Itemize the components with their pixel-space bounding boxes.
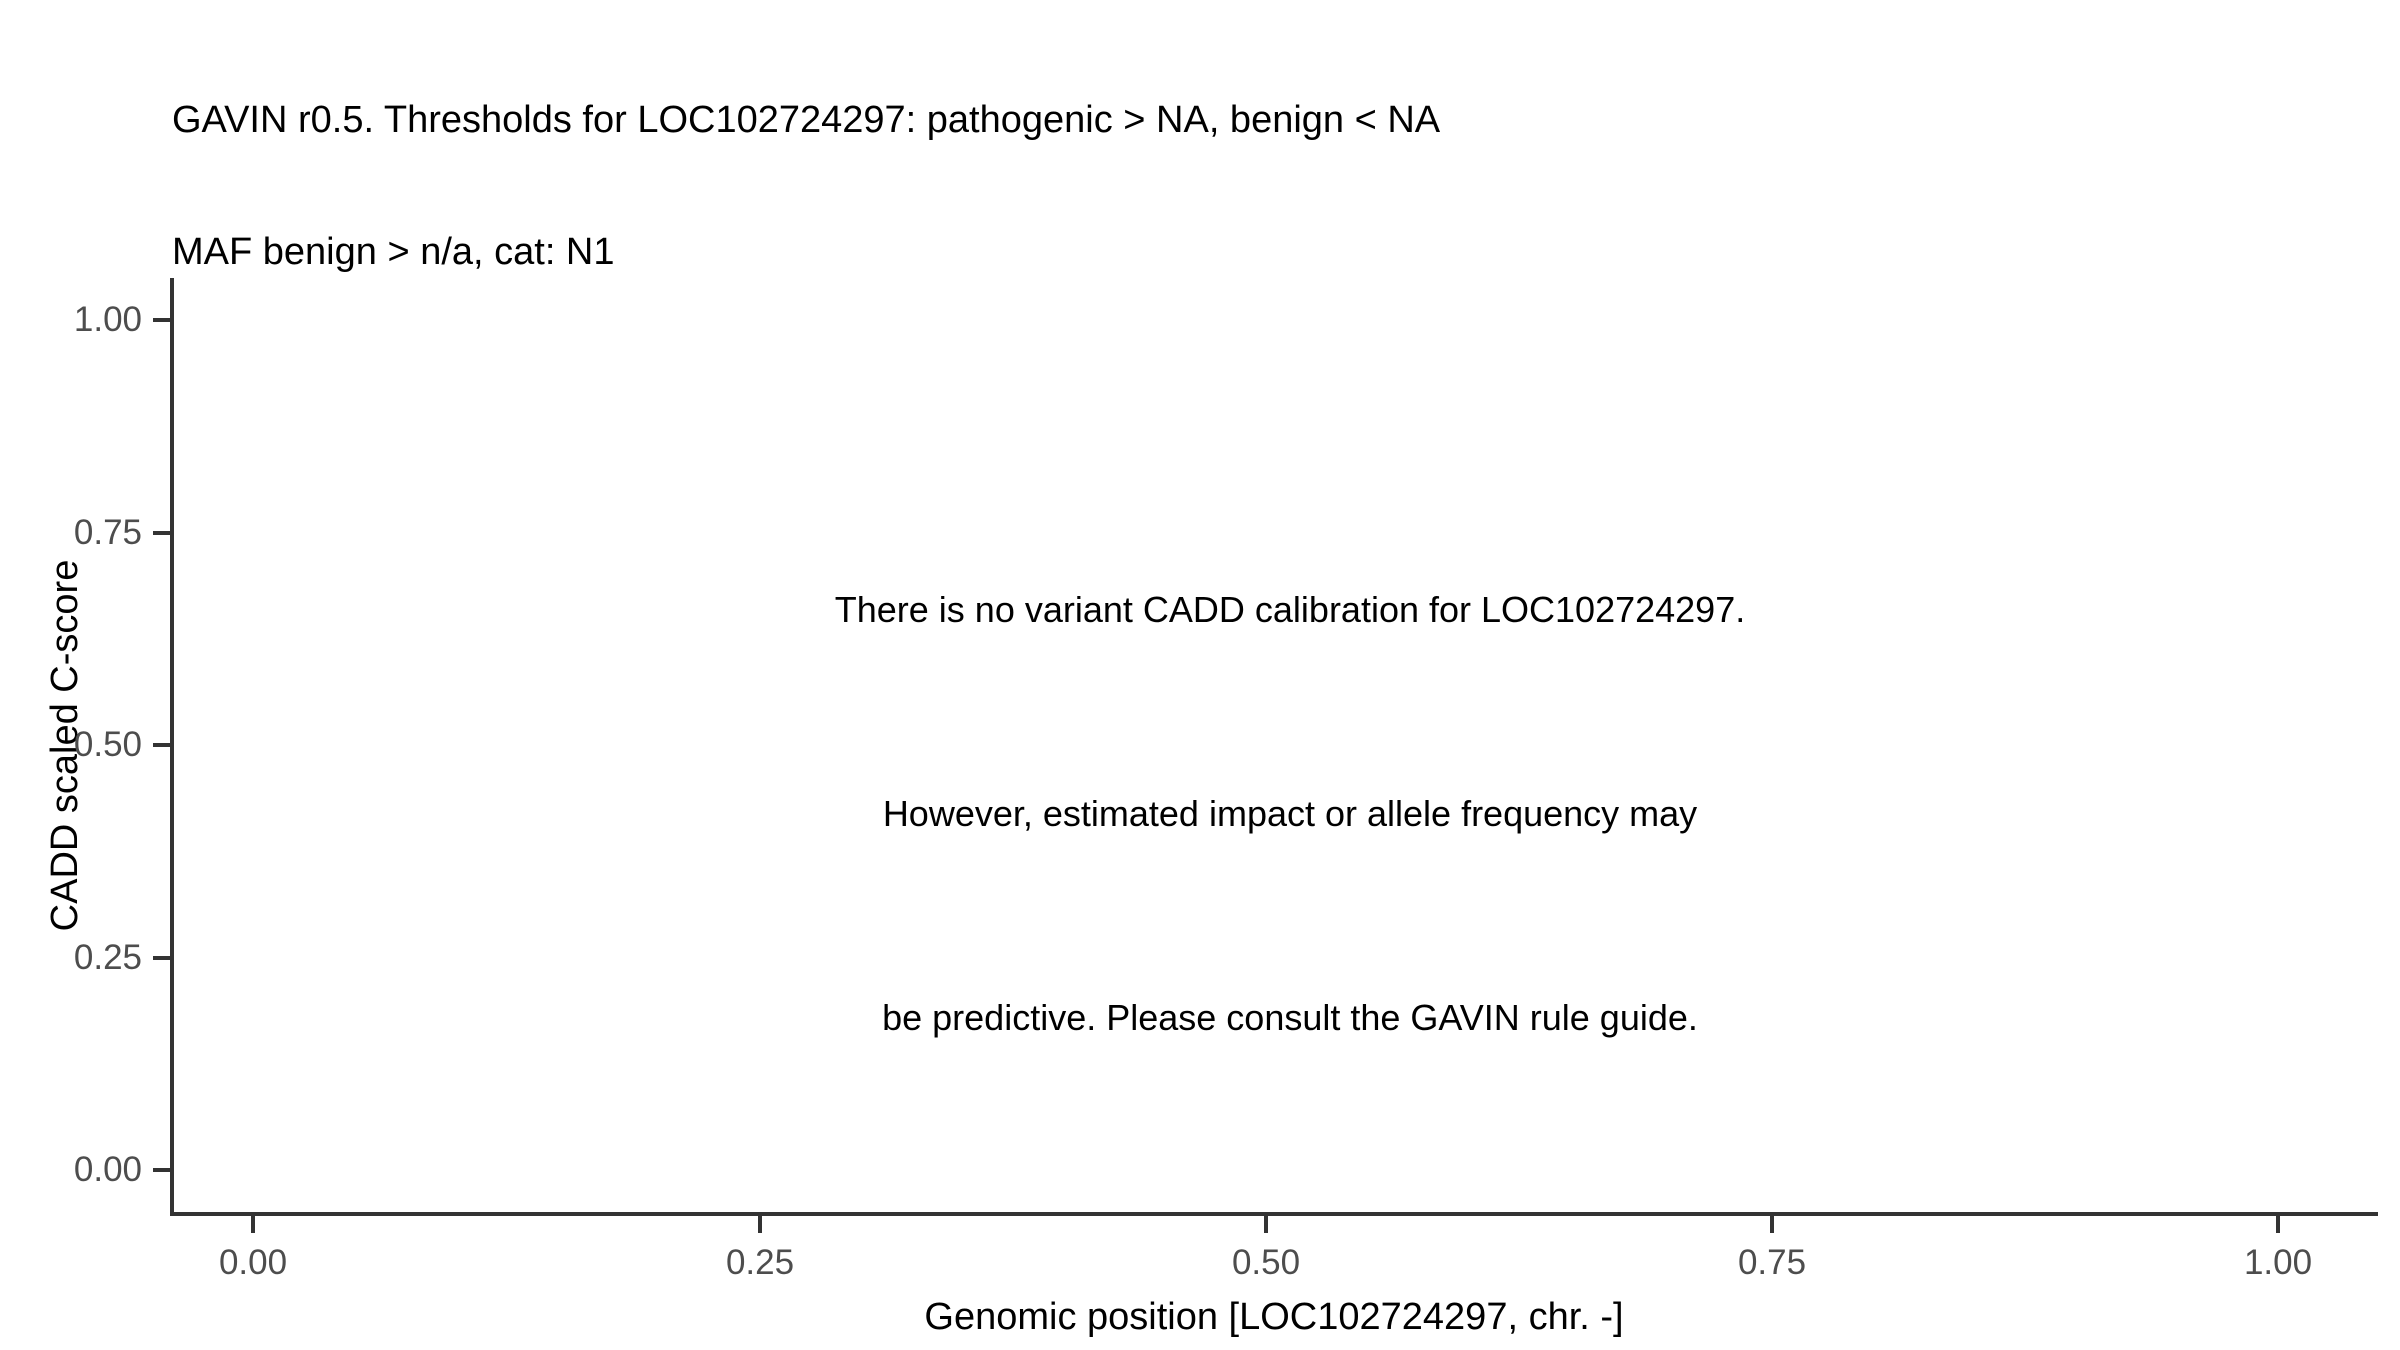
x-tick-mark-0.25 [758,1216,762,1233]
y-tick-label-1.00: 1.00 [74,302,156,337]
annotation-line-1: There is no variant CADD calibration for… [690,576,1890,644]
annotation-line-3: be predictive. Please consult the GAVIN … [690,984,1890,1052]
x-tick-label-0.75: 0.75 [1738,1245,1806,1280]
y-tick-label-0.75: 0.75 [74,515,156,550]
x-axis-line [170,1212,2378,1216]
x-tick-mark-0.75 [1770,1216,1774,1233]
y-tick-label-0.00: 0.00 [74,1152,156,1187]
y-tick-label-0.50: 0.50 [74,727,156,762]
x-tick-label-0.25: 0.25 [726,1245,794,1280]
x-tick-mark-0.00 [251,1216,255,1233]
no-calibration-annotation: There is no variant CADD calibration for… [690,440,1890,1188]
y-axis-line [170,278,174,1216]
annotation-line-2: However, estimated impact or allele freq… [690,780,1890,848]
x-tick-mark-1.00 [2276,1216,2280,1233]
gavin-calibration-plot: GAVIN r0.5. Thresholds for LOC102724297:… [0,0,2400,1350]
x-tick-label-1.00: 1.00 [2244,1245,2312,1280]
plot-title-line-2: MAF benign > n/a, cat: N1 [172,230,2352,274]
plot-title-line-1: GAVIN r0.5. Thresholds for LOC102724297:… [172,98,2352,142]
y-tick-label-0.25: 0.25 [74,940,156,975]
x-tick-label-0.50: 0.50 [1232,1245,1300,1280]
x-tick-mark-0.50 [1264,1216,1268,1233]
x-axis-title: Genomic position [LOC102724297, chr. -] [170,1295,2378,1339]
x-tick-label-0.00: 0.00 [219,1245,287,1280]
